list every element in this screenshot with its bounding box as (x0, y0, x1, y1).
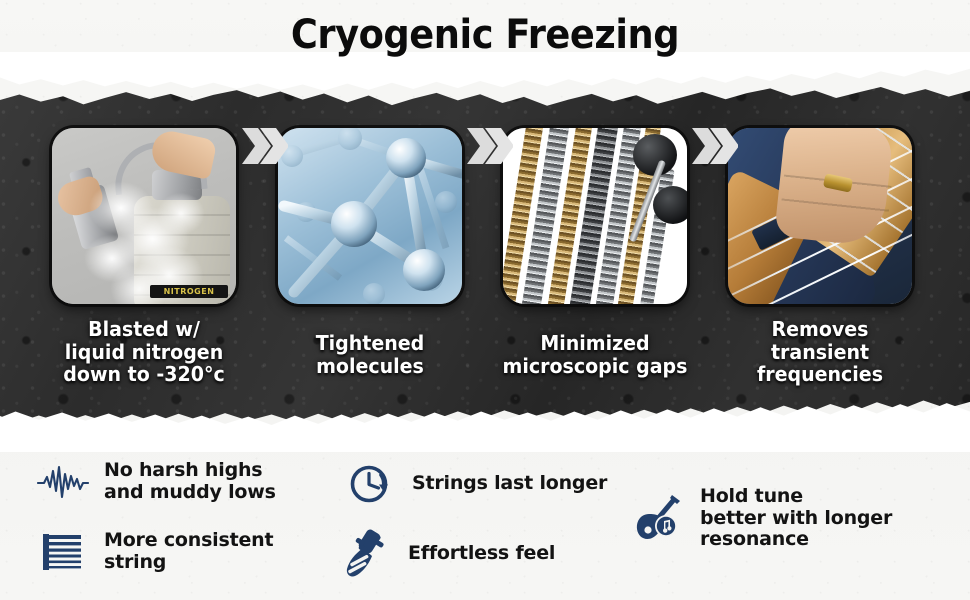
benefit-item-more-consistent-string: More consistent string (36, 528, 273, 576)
string-lines-icon (36, 528, 90, 576)
guitar-music-note-icon (632, 494, 686, 542)
benefit-item-strings-last-longer: Strings last longer (344, 460, 607, 508)
benefit-item-no-harsh-highs: No harsh highs and muddy lows (36, 458, 276, 506)
nitrogen-vapor-cloud (70, 166, 220, 304)
step-captions: Blasted w/ liquid nitrogen down to -320°… (0, 318, 970, 404)
infographic-root: Cryogenic Freezing NITROGEN (0, 0, 970, 600)
step-caption-2: Tightened molecules (261, 332, 480, 377)
benefit-label: More consistent string (104, 530, 273, 573)
step-image-2 (278, 128, 462, 304)
nitrogen-tank-label: NITROGEN (150, 285, 228, 298)
molecular-lattice-photo (278, 128, 462, 304)
step-caption-3: Minimized microscopic gaps (486, 332, 705, 377)
liquid-nitrogen-photo: NITROGEN (52, 128, 236, 304)
benefit-label: Hold tune better with longer resonance (700, 486, 892, 551)
benefit-label: No harsh highs and muddy lows (104, 460, 276, 503)
step-arrow-3 (686, 118, 742, 174)
step-arrow-2 (461, 118, 517, 174)
step-caption-1: Blasted w/ liquid nitrogen down to -320°… (35, 318, 254, 386)
clock-history-icon (344, 460, 398, 508)
double-chevron-right-icon (240, 125, 288, 167)
benefit-item-hold-tune: Hold tune better with longer resonance (632, 486, 892, 551)
benefit-label: Effortless feel (408, 543, 555, 565)
step-image-4 (728, 128, 912, 304)
benefit-item-effortless-feel: Effortless feel (340, 530, 555, 578)
double-chevron-right-icon (690, 125, 738, 167)
double-chevron-right-icon (465, 125, 513, 167)
page-title: Cryogenic Freezing (39, 12, 931, 58)
bass-strings-photo (503, 128, 687, 304)
steps-panel-row: NITROGEN (0, 84, 970, 284)
step-image-3 (503, 128, 687, 304)
bass-guitar-photo (728, 128, 912, 304)
step-caption-4: Removes transient frequencies (711, 318, 930, 386)
step-image-1: NITROGEN (52, 128, 236, 304)
waveform-icon (36, 458, 90, 506)
benefit-label: Strings last longer (412, 473, 607, 495)
molecule-diagram-icon (278, 128, 462, 304)
tuner-knob-shape (653, 186, 687, 224)
step-arrow-1 (236, 118, 292, 174)
benefits-list: No harsh highs and muddy lows More consi… (0, 450, 970, 600)
hand-on-neck-icon (340, 530, 394, 578)
